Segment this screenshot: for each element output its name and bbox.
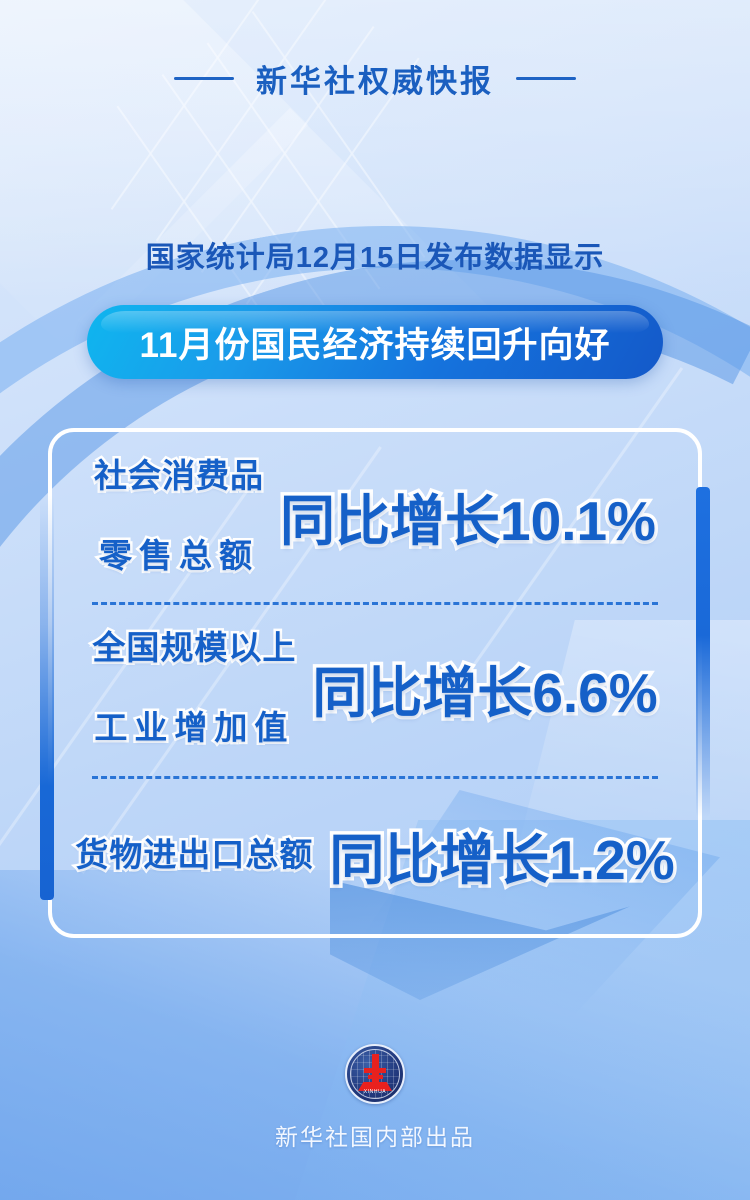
stat-label: 货物进出口总额 [75, 795, 313, 916]
header-rule-left-icon [174, 77, 234, 80]
stat-value: 同比增长6.6% [312, 648, 657, 728]
stat-divider [92, 776, 658, 779]
poster-header: 新华社权威快报 [0, 56, 750, 101]
infographic-poster: 新华社权威快报 国家统计局12月15日发布数据显示 11月份国民经济持续回升向好… [0, 0, 750, 1200]
stat-label-line-1: 社会消费品 [94, 456, 264, 496]
subtitle-text: 国家统计局12月15日发布数据显示 [0, 234, 750, 276]
stats-list: 社会消费品 零售总额 同比增长10.1% 全国规模以上 工业增加值 同比增长6.… [48, 428, 702, 938]
xinhua-logo-icon: XINHUA [345, 1044, 405, 1104]
headline-pill-text: 11月份国民经济持续回升向好 [139, 317, 610, 368]
logo-tower-arm [364, 1068, 386, 1073]
stat-label-line-2: 零售总额 [94, 536, 264, 576]
logo-caption: XINHUA [347, 1089, 403, 1095]
stat-row: 货物进出口总额 同比增长1.2% [48, 790, 702, 920]
logo-tower-arm-lower [368, 1075, 383, 1079]
poster-footer: XINHUA 新华社国内部出品 [0, 1044, 750, 1152]
footer-credit-text: 新华社国内部出品 [275, 1118, 475, 1152]
header-rule-right-icon [516, 77, 576, 80]
stat-label-line-2: 工业增加值 [92, 708, 296, 748]
stat-label-line-1: 全国规模以上 [92, 628, 296, 668]
headline-pill-banner: 11月份国民经济持续回升向好 [87, 305, 663, 379]
page-title: 新华社权威快报 [256, 56, 494, 101]
stat-label-line-1: 货物进出口总额 [75, 835, 313, 875]
stat-label: 全国规模以上 工业增加值 [92, 587, 296, 788]
stat-row: 社会消费品 零售总额 同比增长10.1% [48, 446, 702, 586]
stat-value: 同比增长10.1% [280, 476, 656, 556]
stat-value: 同比增长1.2% [329, 815, 674, 895]
stat-row: 全国规模以上 工业增加值 同比增长6.6% [48, 618, 702, 758]
